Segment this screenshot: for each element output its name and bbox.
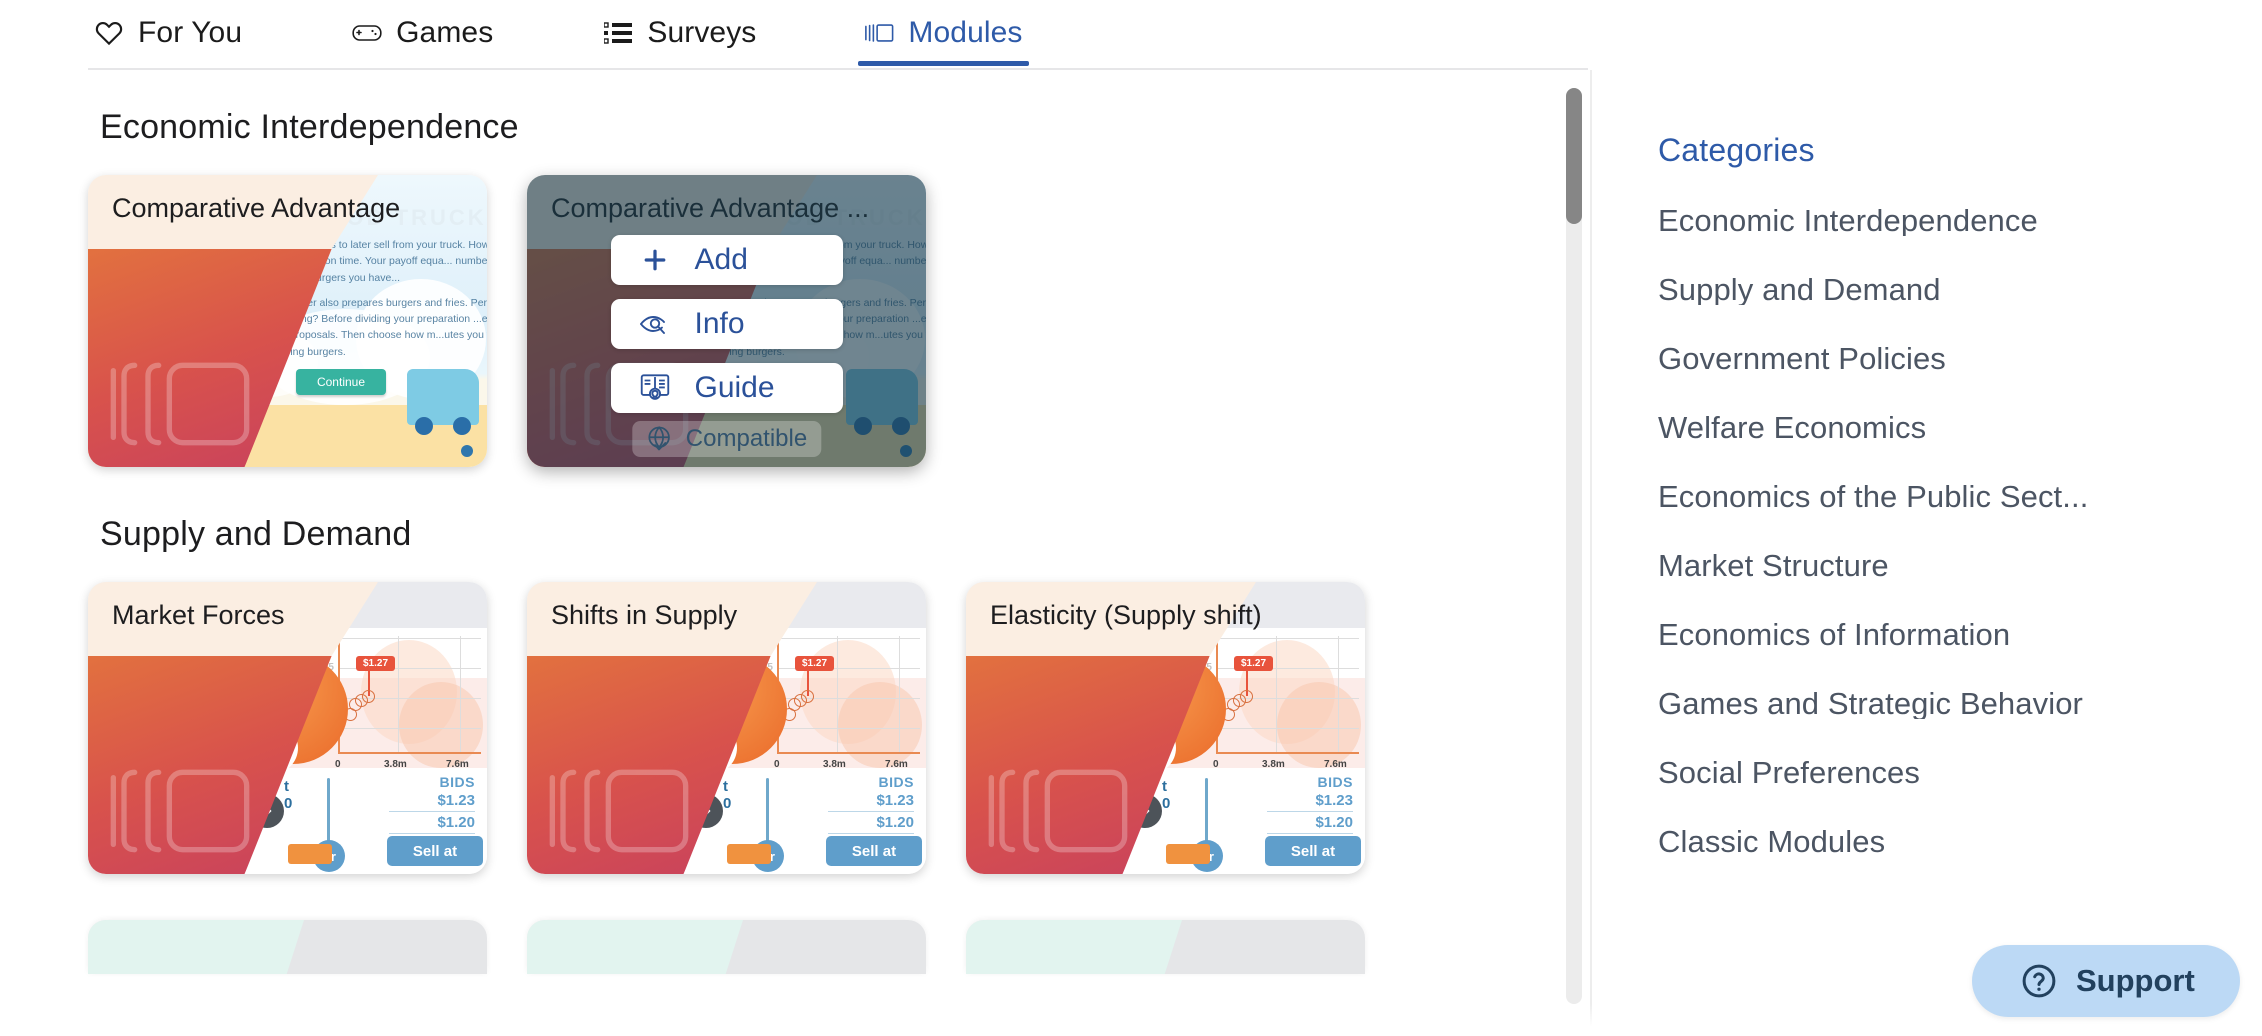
chart-x-tick: 3.8m: [1262, 759, 1285, 770]
tab-games-label: Games: [396, 16, 493, 50]
module-card-title: Market Forces: [112, 600, 471, 631]
bids-header: BIDS: [828, 774, 914, 790]
heart-icon: [94, 18, 124, 48]
card-hover-action-menu: Add Info: [527, 175, 926, 467]
chart-x-tick: 0: [335, 759, 341, 770]
module-card-shifts-in-supply[interactable]: $3.00 $2.25 $1.50 $0.75 0 3.8m 7.6m $1.2…: [527, 582, 926, 874]
guide-book-icon: [639, 372, 671, 404]
chart-x-tick: 3.8m: [384, 759, 407, 770]
artwork-continue-button: Continue: [296, 369, 386, 395]
module-card-partial[interactable]: [966, 920, 1365, 974]
module-card-title: Elasticity (Supply shift): [990, 600, 1349, 631]
module-stack-logo-icon: [539, 756, 699, 866]
tab-games[interactable]: Games: [346, 0, 499, 66]
module-card-comparative-advantage[interactable]: FOOD TRUCK ...rgers and fries to later s…: [88, 175, 487, 467]
support-button[interactable]: Support: [1972, 945, 2240, 1017]
modules-icon: [864, 18, 894, 48]
sidebar-item-economics-of-information[interactable]: Economics of Information: [1658, 619, 2178, 650]
sidebar-item-classic-modules[interactable]: Classic Modules: [1658, 826, 2178, 857]
chart-x-tick: 0: [1213, 759, 1219, 770]
main-tab-bar: For You Games: [88, 0, 1588, 70]
chart-x-tick: 7.6m: [885, 759, 908, 770]
tab-surveys[interactable]: Surveys: [597, 0, 762, 66]
question-circle-icon: [2020, 962, 2058, 1000]
chart-x-tick: 3.8m: [823, 759, 846, 770]
card-row-economic-interdependence: FOOD TRUCK ...rgers and fries to later s…: [88, 175, 1592, 467]
bid-value: $1.20: [1267, 812, 1353, 834]
module-guide-label: Guide: [695, 371, 775, 405]
tab-surveys-label: Surveys: [647, 16, 756, 50]
modules-browser-page: For You Games: [0, 0, 2262, 1036]
chart-price-tag: $1.27: [356, 656, 395, 671]
sidebar-item-government-policies[interactable]: Government Policies: [1658, 343, 2178, 374]
module-card-market-forces[interactable]: $3.00 $2.25 $1.50 $0.75 0 3.8m 7.6m $1.2…: [88, 582, 487, 874]
card-row-supply-and-demand: $3.00 $2.25 $1.50 $0.75 0 3.8m 7.6m $1.2…: [88, 582, 1592, 874]
content-scrollbar-track[interactable]: [1566, 88, 1582, 1004]
sidebar-item-economics-public-sector[interactable]: Economics of the Public Sect...: [1658, 481, 2178, 512]
chart-price-tag: $1.27: [795, 656, 834, 671]
module-info-label: Info: [695, 307, 745, 341]
modules-scroll-pane[interactable]: Economic Interdependence FOOD TRUCK ...r…: [0, 70, 1592, 1036]
module-card-title: Shifts in Supply: [551, 600, 910, 631]
tab-for-you-label: For You: [138, 16, 242, 50]
content-scrollbar-thumb[interactable]: [1566, 88, 1582, 224]
gamepad-icon: [352, 18, 382, 48]
module-card-partial[interactable]: [527, 920, 926, 974]
support-label: Support: [2076, 963, 2195, 999]
sidebar-item-economic-interdependence[interactable]: Economic Interdependence: [1658, 205, 2178, 236]
bid-value: $1.20: [389, 812, 475, 834]
module-stack-logo-icon: [100, 349, 260, 459]
content-bottom-fade: [0, 1004, 1592, 1036]
tab-for-you[interactable]: For You: [88, 0, 248, 66]
module-info-button[interactable]: Info: [611, 299, 843, 349]
add-module-button[interactable]: Add: [611, 235, 843, 285]
bid-value: $1.23: [828, 790, 914, 812]
module-card-comparative-advantage-hovered[interactable]: FOOD TRUCK ...rgers and fries to later s…: [527, 175, 926, 467]
chart-x-tick: 0: [774, 759, 780, 770]
artwork-mini-chart: $3.00 $2.25 $1.50 $0.75 0 3.8m 7.6m $1.2…: [777, 636, 920, 754]
categories-sidebar: Categories Economic Interdependence Supp…: [1658, 132, 2178, 895]
module-card-title: Comparative Advantage: [112, 193, 471, 224]
module-stack-logo-icon: [978, 756, 1138, 866]
active-tab-underline: [858, 61, 1028, 66]
artwork-sell-button: Sell at: [387, 836, 483, 866]
content-pane-edge: [1590, 70, 1592, 1036]
bid-value: $1.20: [828, 812, 914, 834]
module-guide-button[interactable]: Guide: [611, 363, 843, 413]
list-icon: [603, 18, 633, 48]
card-row-next-partial: [88, 920, 1592, 974]
sidebar-item-welfare-economics[interactable]: Welfare Economics: [1658, 412, 2178, 443]
artwork-sell-button: Sell at: [826, 836, 922, 866]
module-stack-logo-icon: [100, 756, 260, 866]
categories-heading: Categories: [1658, 132, 2178, 169]
add-module-label: Add: [695, 243, 748, 277]
bids-header: BIDS: [389, 774, 475, 790]
sidebar-item-games-strategic-behavior[interactable]: Games and Strategic Behavior: [1658, 688, 2178, 719]
tab-modules-label: Modules: [908, 16, 1022, 50]
sidebar-item-social-preferences[interactable]: Social Preferences: [1658, 757, 2178, 788]
sidebar-item-supply-and-demand[interactable]: Supply and Demand: [1658, 274, 2178, 305]
bid-value: $1.23: [1267, 790, 1353, 812]
chart-price-tag: $1.27: [1234, 656, 1273, 671]
bids-header: BIDS: [1267, 774, 1353, 790]
bid-value: $1.23: [389, 790, 475, 812]
tab-modules[interactable]: Modules: [858, 0, 1028, 66]
artwork-mini-chart: $3.00 $2.25 $1.50 $0.75 0 3.8m 7.6m $1.2…: [338, 636, 481, 754]
module-card-elasticity-supply-shift[interactable]: $3.00 $2.25 $1.50 $0.75 0 3.8m 7.6m $1.2…: [966, 582, 1365, 874]
chart-x-tick: 7.6m: [446, 759, 469, 770]
artwork-mini-chart: $3.00 $2.25 $1.50 $0.75 0 3.8m 7.6m $1.2…: [1216, 636, 1359, 754]
eye-icon: [639, 308, 671, 340]
section-title-economic-interdependence: Economic Interdependence: [100, 108, 1592, 147]
plus-icon: [639, 244, 671, 276]
chart-x-tick: 7.6m: [1324, 759, 1347, 770]
module-card-partial[interactable]: [88, 920, 487, 974]
section-title-supply-and-demand: Supply and Demand: [100, 515, 1592, 554]
sidebar-item-market-structure[interactable]: Market Structure: [1658, 550, 2178, 581]
artwork-sell-button: Sell at: [1265, 836, 1361, 866]
